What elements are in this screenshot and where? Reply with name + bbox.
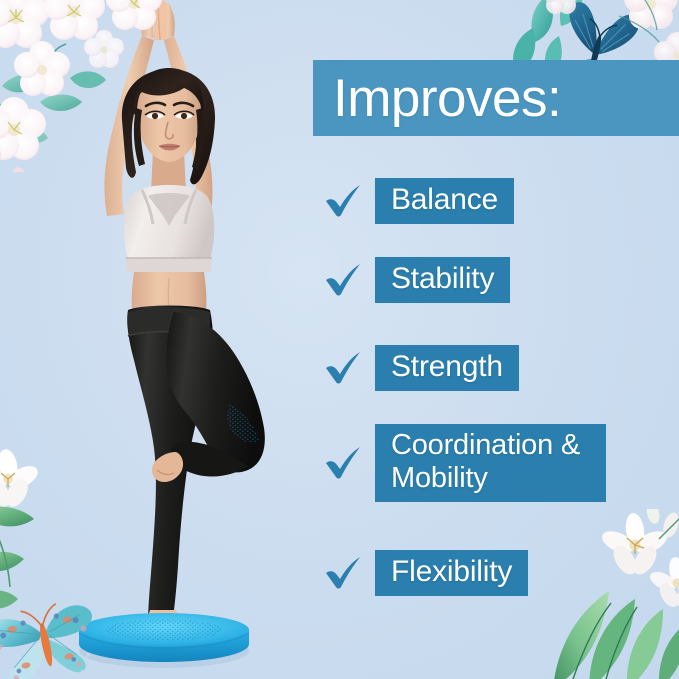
- benefit-box: Balance: [375, 178, 514, 224]
- benefit-box: Coordination & Mobility: [375, 424, 606, 502]
- check-icon: [313, 446, 375, 480]
- header-banner: Improves:: [313, 60, 679, 136]
- list-item[interactable]: Strength: [313, 345, 679, 391]
- infographic-canvas: Improves: Balance: [0, 0, 679, 679]
- check-icon: [313, 556, 375, 590]
- list-item[interactable]: Stability: [313, 257, 679, 303]
- benefit-label: Strength: [391, 350, 503, 384]
- benefit-box: Flexibility: [375, 550, 528, 596]
- benefit-label: Stability: [391, 262, 494, 296]
- list-item[interactable]: Flexibility: [313, 550, 679, 596]
- benefit-label: Coordination & Mobility: [391, 429, 580, 495]
- check-icon: [313, 351, 375, 385]
- list-item[interactable]: Coordination & Mobility: [313, 424, 679, 502]
- benefit-label: Balance: [391, 183, 498, 217]
- benefit-label: Flexibility: [391, 555, 512, 589]
- page-title: Improves:: [333, 72, 561, 125]
- list-item[interactable]: Balance: [313, 178, 679, 224]
- yoga-woman-photo: [24, 0, 314, 679]
- check-icon: [313, 263, 375, 297]
- benefit-box: Strength: [375, 345, 519, 391]
- benefits-panel: Improves: Balance: [313, 0, 679, 679]
- check-icon: [313, 184, 375, 218]
- benefit-box: Stability: [375, 257, 510, 303]
